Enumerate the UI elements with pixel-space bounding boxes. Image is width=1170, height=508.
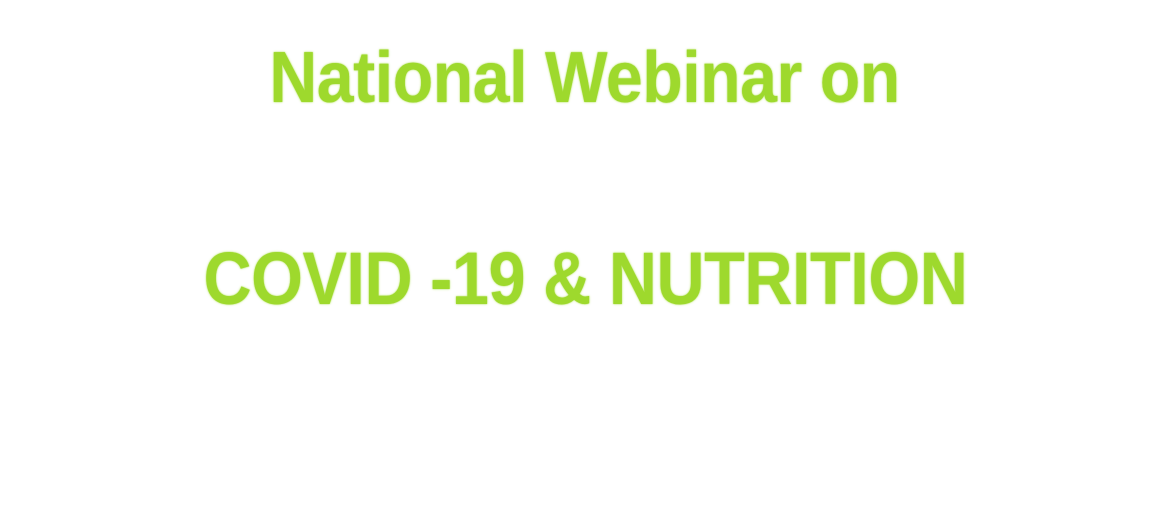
webinar-title-slide: National Webinar on COVID -19 & NUTRITIO… bbox=[0, 0, 1170, 508]
title-block: National Webinar on COVID -19 & NUTRITIO… bbox=[0, 0, 1170, 508]
title-line-spacer bbox=[585, 114, 586, 242]
webinar-title-line-1: National Webinar on bbox=[270, 42, 900, 114]
webinar-title-line-2: COVID -19 & NUTRITION bbox=[203, 242, 967, 316]
